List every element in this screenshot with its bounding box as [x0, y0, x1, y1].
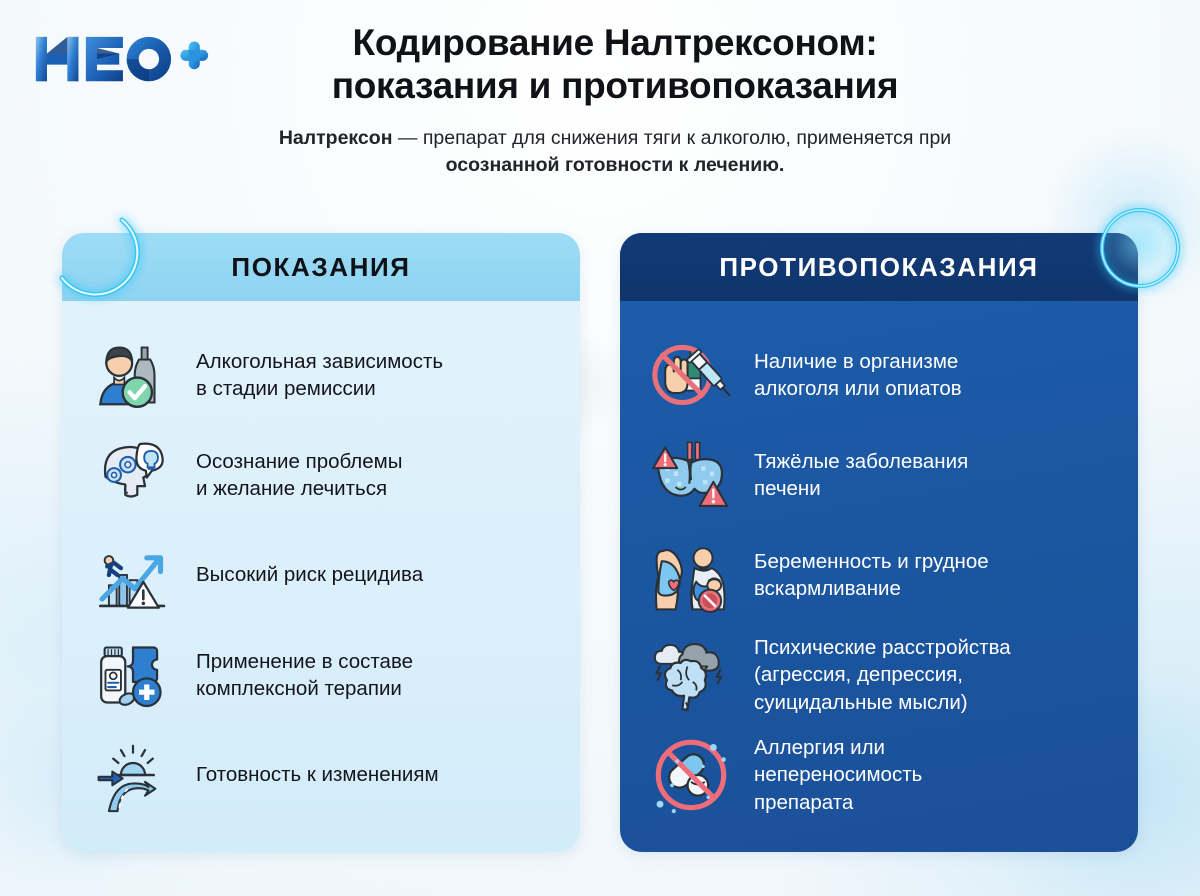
liver-warning-icon — [648, 432, 734, 518]
list-item: Алкогольная зависимость в стадии ремисси… — [90, 325, 552, 425]
contraindications-card-body: Наличие в организме алкоголя или опиатов — [620, 301, 1138, 825]
subtitle-drug-name: Налтрексон — [279, 127, 393, 149]
list-item-label: Тяжёлые заболевания печени — [754, 448, 968, 503]
list-item-label: Беременность и грудное вскармливание — [754, 548, 989, 603]
page-header: Кодирование Налтрексоном: показания и пр… — [0, 0, 1200, 212]
brain-storm-cloud-icon — [648, 632, 734, 718]
subtitle-emphasis: осознанной готовности к лечению. — [446, 154, 785, 176]
indications-card-header: ПОКАЗАНИЯ — [62, 233, 580, 301]
list-item-label: Алкогольная зависимость в стадии ремисси… — [196, 348, 443, 403]
rising-chart-warning-icon — [90, 532, 176, 618]
contraindications-title: ПРОТИВОПОКАЗАНИЯ — [719, 252, 1038, 283]
list-item-label: Высокий риск рецидива — [196, 561, 423, 588]
pill-bottle-puzzle-cross-icon — [90, 632, 176, 718]
logo-letter-o — [127, 37, 171, 81]
contraindications-card-header: ПРОТИВОПОКАЗАНИЯ — [620, 233, 1138, 301]
sunrise-road-arrow-icon — [90, 732, 176, 818]
list-item: Высокий риск рецидива — [90, 525, 552, 625]
list-item: Осознание проблемы и желание лечиться — [90, 425, 552, 525]
indications-card-body: Алкогольная зависимость в стадии ремисси… — [62, 301, 580, 825]
indications-card: ПОКАЗАНИЯ Алкогольная зависимо — [62, 233, 580, 852]
indications-title: ПОКАЗАНИЯ — [231, 252, 410, 283]
page-subtitle: Налтрексон — препарат для снижения тяги … — [235, 125, 995, 179]
list-item-label: Наличие в организме алкоголя или опиатов — [754, 348, 962, 403]
subtitle-middle: — препарат для снижения тяги к алкоголю,… — [392, 127, 951, 149]
logo-plus-icon — [180, 41, 208, 69]
list-item: Беременность и грудное вскармливание — [648, 525, 1110, 625]
pregnancy-breastfeeding-ban-icon — [648, 532, 734, 618]
no-alcohol-syringe-icon — [648, 332, 734, 418]
list-item-label: Осознание проблемы и желание лечиться — [196, 448, 403, 503]
list-item-label: Готовность к изменениям — [196, 761, 439, 788]
no-pills-allergy-icon — [648, 732, 734, 818]
list-item: Аллергия или непереносимость препарата — [648, 725, 1110, 825]
contraindications-card: ПРОТИВОПОКАЗАНИЯ — [620, 233, 1138, 852]
page-title: Кодирование Налтрексоном: показания и пр… — [235, 22, 995, 108]
list-item-label: Применение в составе комплексной терапии — [196, 648, 413, 703]
brand-logo — [34, 30, 210, 90]
list-item: Применение в составе комплексной терапии — [90, 625, 552, 725]
logo-letter-h — [36, 37, 79, 81]
list-item: Наличие в организме алкоголя или опиатов — [648, 325, 1110, 425]
list-item: Готовность к изменениям — [90, 725, 552, 825]
list-item-label: Психические расстройства (агрессия, депр… — [754, 634, 1011, 716]
list-item: Тяжёлые заболевания печени — [648, 425, 1110, 525]
cards-container: ПОКАЗАНИЯ Алкогольная зависимо — [0, 233, 1200, 853]
list-item-label: Аллергия или непереносимость препарата — [754, 734, 922, 816]
person-bottle-check-icon — [90, 332, 176, 418]
list-item: Психические расстройства (агрессия, депр… — [648, 625, 1110, 725]
logo-letter-e — [86, 37, 123, 81]
head-gears-lightbulb-icon — [90, 432, 176, 518]
